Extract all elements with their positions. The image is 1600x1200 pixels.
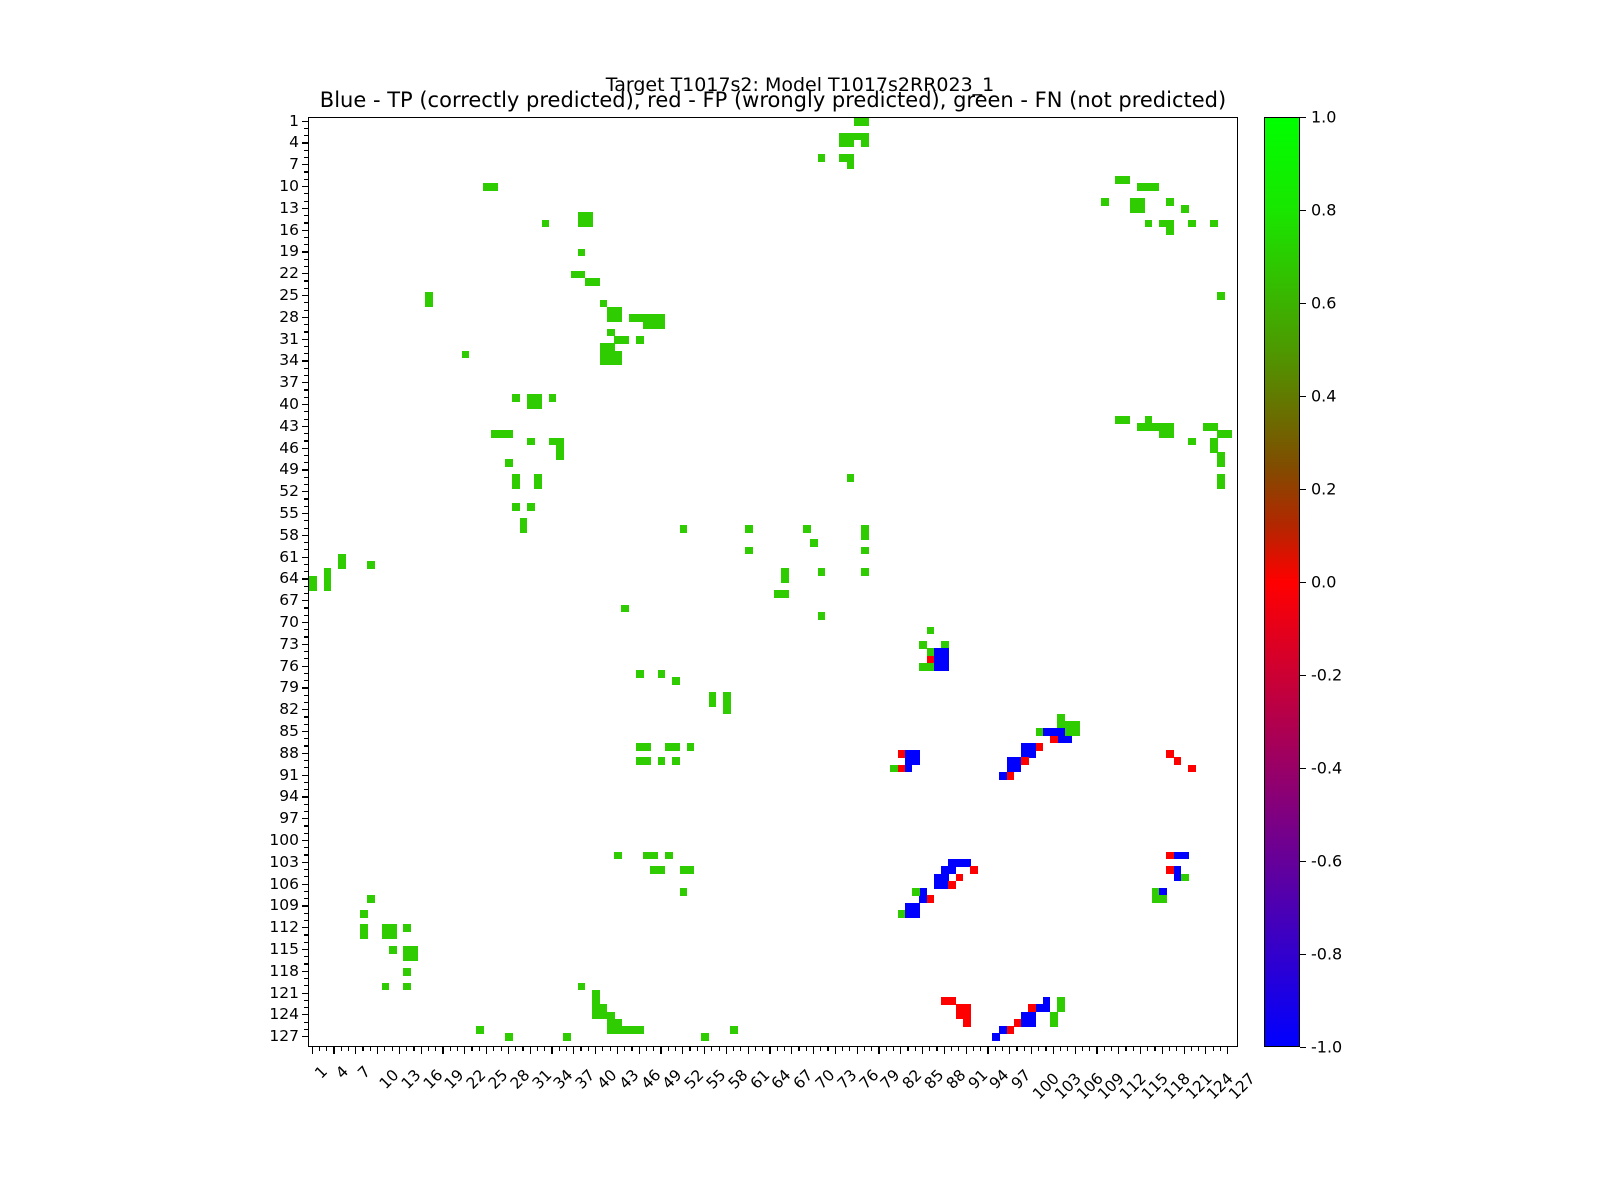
- x-tick-2: [319, 1047, 320, 1051]
- y-tick-18: [304, 244, 308, 245]
- x-tick-103: [1053, 1047, 1054, 1054]
- x-tick-116: [1147, 1047, 1148, 1051]
- y-tick-106: [302, 884, 309, 885]
- x-tick-70: [813, 1047, 814, 1054]
- x-tick-7: [355, 1047, 356, 1054]
- y-tick-111: [304, 920, 308, 921]
- y-tick-124: [302, 1014, 309, 1015]
- y-tick-103: [302, 862, 309, 863]
- x-tick-55: [704, 1047, 705, 1054]
- y-tick-label-13: 13: [279, 199, 299, 217]
- y-tick-96: [304, 811, 308, 812]
- y-tick-5: [304, 150, 308, 151]
- x-tick-49: [660, 1047, 661, 1054]
- y-tick-79: [302, 687, 309, 688]
- colorbar-tick-6: [1300, 675, 1306, 676]
- y-tick-30: [304, 331, 308, 332]
- y-tick-95: [304, 804, 308, 805]
- y-tick-97: [302, 818, 309, 819]
- y-tick-100: [302, 840, 309, 841]
- y-tick-78: [304, 680, 308, 681]
- y-tick-label-55: 55: [279, 504, 299, 522]
- y-tick-52: [302, 491, 309, 492]
- y-tick-75: [304, 658, 308, 659]
- y-tick-121: [302, 993, 309, 994]
- y-tick-32: [304, 346, 308, 347]
- x-tick-label-4: 4: [333, 1062, 353, 1082]
- x-tick-80: [886, 1047, 887, 1051]
- y-tick-label-91: 91: [279, 766, 299, 784]
- x-tick-67: [791, 1047, 792, 1054]
- y-tick-84: [304, 724, 308, 725]
- x-tick-42: [610, 1047, 611, 1051]
- x-tick-122: [1191, 1047, 1192, 1051]
- x-tick-60: [740, 1047, 741, 1051]
- y-tick-62: [304, 564, 308, 565]
- x-tick-43: [617, 1047, 618, 1054]
- y-tick-43: [302, 426, 309, 427]
- y-tick-113: [304, 934, 308, 935]
- x-tick-83: [907, 1047, 908, 1051]
- colorbar-tick-label-10: -1.0: [1311, 1038, 1342, 1057]
- y-tick-85: [302, 731, 309, 732]
- x-tick-35: [559, 1047, 560, 1051]
- x-tick-45: [631, 1047, 632, 1051]
- x-tick-32: [537, 1047, 538, 1051]
- x-tick-47: [646, 1047, 647, 1051]
- x-tick-48: [653, 1047, 654, 1051]
- y-tick-69: [304, 615, 308, 616]
- x-tick-17: [428, 1047, 429, 1051]
- x-tick-101: [1038, 1047, 1039, 1051]
- x-tick-25: [486, 1047, 487, 1054]
- y-tick-93: [304, 789, 308, 790]
- x-tick-1: [312, 1047, 313, 1054]
- y-tick-label-115: 115: [269, 940, 299, 958]
- x-tick-113: [1125, 1047, 1126, 1051]
- colorbar-tick-8: [1300, 861, 1306, 862]
- colorbar-tick-7: [1300, 768, 1306, 769]
- y-tick-64: [302, 578, 309, 579]
- x-tick-124: [1205, 1047, 1206, 1054]
- y-tick-label-73: 73: [279, 635, 299, 653]
- x-tick-29: [515, 1047, 516, 1051]
- x-tick-121: [1184, 1047, 1185, 1054]
- x-tick-88: [944, 1047, 945, 1054]
- x-tick-51: [675, 1047, 676, 1051]
- y-tick-41: [304, 411, 308, 412]
- y-tick-21: [304, 266, 308, 267]
- x-tick-26: [493, 1047, 494, 1051]
- y-tick-26: [304, 302, 308, 303]
- x-tick-18: [435, 1047, 436, 1051]
- x-tick-52: [682, 1047, 683, 1054]
- y-tick-40: [302, 404, 309, 405]
- x-tick-111: [1111, 1047, 1112, 1051]
- x-tick-53: [689, 1047, 690, 1051]
- y-tick-70: [302, 622, 309, 623]
- x-tick-115: [1140, 1047, 1141, 1054]
- y-tick-65: [304, 586, 308, 587]
- y-tick-label-103: 103: [269, 853, 299, 871]
- y-tick-36: [304, 375, 308, 376]
- x-tick-102: [1045, 1047, 1046, 1051]
- x-tick-112: [1118, 1047, 1119, 1054]
- colorbar-tick-label-9: -0.8: [1311, 945, 1342, 964]
- x-tick-50: [668, 1047, 669, 1051]
- y-tick-60: [304, 549, 308, 550]
- x-tick-33: [544, 1047, 545, 1051]
- y-tick-122: [304, 1000, 308, 1001]
- y-tick-83: [304, 716, 308, 717]
- x-tick-22: [464, 1047, 465, 1054]
- x-tick-91: [966, 1047, 967, 1054]
- y-tick-77: [304, 673, 308, 674]
- y-tick-91: [302, 775, 309, 776]
- x-tick-62: [755, 1047, 756, 1051]
- x-tick-21: [457, 1047, 458, 1051]
- y-tick-37: [302, 382, 309, 383]
- x-tick-73: [835, 1047, 836, 1054]
- y-tick-2: [304, 128, 308, 129]
- y-tick-29: [304, 324, 308, 325]
- y-tick-58: [302, 535, 309, 536]
- y-tick-53: [304, 498, 308, 499]
- y-tick-45: [304, 440, 308, 441]
- y-tick-label-64: 64: [279, 569, 299, 587]
- y-tick-117: [304, 963, 308, 964]
- colorbar-tick-2: [1300, 303, 1306, 304]
- y-tick-63: [304, 571, 308, 572]
- y-tick-label-100: 100: [269, 831, 299, 849]
- x-tick-126: [1220, 1047, 1221, 1051]
- y-tick-19: [302, 251, 309, 252]
- y-tick-label-40: 40: [279, 395, 299, 413]
- colorbar-tick-9: [1300, 954, 1306, 955]
- y-tick-57: [304, 528, 308, 529]
- x-tick-40: [595, 1047, 596, 1054]
- y-tick-label-112: 112: [269, 918, 299, 936]
- y-tick-label-34: 34: [279, 351, 299, 369]
- y-tick-14: [304, 215, 308, 216]
- y-tick-label-88: 88: [279, 744, 299, 762]
- x-tick-41: [602, 1047, 603, 1051]
- x-tick-82: [900, 1047, 901, 1054]
- y-tick-87: [304, 745, 308, 746]
- y-tick-92: [304, 782, 308, 783]
- colorbar-tick-label-0: 1.0: [1311, 108, 1336, 127]
- y-tick-15: [304, 222, 308, 223]
- x-tick-87: [936, 1047, 937, 1051]
- y-tick-50: [304, 477, 308, 478]
- x-tick-label-127: 127: [1225, 1069, 1259, 1103]
- y-tick-51: [304, 484, 308, 485]
- y-tick-109: [302, 905, 309, 906]
- y-tick-38: [304, 389, 308, 390]
- y-tick-label-28: 28: [279, 308, 299, 326]
- x-tick-68: [798, 1047, 799, 1051]
- x-tick-36: [566, 1047, 567, 1051]
- x-tick-58: [726, 1047, 727, 1054]
- colorbar-tick-0: [1300, 117, 1306, 118]
- x-tick-59: [733, 1047, 734, 1051]
- colorbar-tick-label-7: -0.4: [1311, 759, 1342, 778]
- y-tick-label-106: 106: [269, 875, 299, 893]
- y-tick-label-85: 85: [279, 722, 299, 740]
- y-tick-127: [302, 1036, 309, 1037]
- x-tick-65: [777, 1047, 778, 1051]
- x-tick-90: [958, 1047, 959, 1051]
- x-tick-96: [1002, 1047, 1003, 1051]
- x-tick-79: [878, 1047, 879, 1054]
- y-tick-102: [304, 854, 308, 855]
- y-tick-76: [302, 666, 309, 667]
- y-tick-68: [304, 607, 308, 608]
- x-tick-71: [820, 1047, 821, 1051]
- colorbar-tick-label-1: 0.8: [1311, 201, 1336, 220]
- y-tick-3: [304, 135, 308, 136]
- y-tick-89: [304, 760, 308, 761]
- x-tick-31: [530, 1047, 531, 1054]
- y-tick-120: [304, 985, 308, 986]
- y-tick-label-79: 79: [279, 678, 299, 696]
- x-tick-27: [501, 1047, 502, 1051]
- y-tick-66: [304, 593, 308, 594]
- y-tick-label-109: 109: [269, 896, 299, 914]
- y-tick-110: [304, 913, 308, 914]
- y-tick-label-82: 82: [279, 700, 299, 718]
- x-tick-75: [849, 1047, 850, 1051]
- x-tick-84: [915, 1047, 916, 1051]
- colorbar-tick-label-6: -0.2: [1311, 666, 1342, 685]
- x-tick-46: [639, 1047, 640, 1054]
- y-tick-7: [302, 164, 309, 165]
- colorbar-tick-layer: 1.00.80.60.40.20.0-0.2-0.4-0.6-0.8-1.0: [1264, 117, 1300, 1047]
- x-tick-34: [551, 1047, 552, 1054]
- y-tick-22: [302, 273, 309, 274]
- y-tick-107: [304, 891, 308, 892]
- y-tick-116: [304, 956, 308, 957]
- x-tick-92: [973, 1047, 974, 1051]
- y-tick-94: [302, 796, 309, 797]
- y-tick-label-124: 124: [269, 1005, 299, 1023]
- x-tick-127: [1227, 1047, 1228, 1054]
- y-tick-67: [302, 600, 309, 601]
- colorbar-tick-label-2: 0.6: [1311, 294, 1336, 313]
- y-tick-label-61: 61: [279, 548, 299, 566]
- x-tick-119: [1169, 1047, 1170, 1051]
- y-tick-49: [302, 469, 309, 470]
- y-tick-61: [302, 557, 309, 558]
- colorbar-tick-label-3: 0.4: [1311, 387, 1336, 406]
- y-tick-17: [304, 237, 308, 238]
- x-tick-108: [1089, 1047, 1090, 1051]
- y-tick-label-43: 43: [279, 417, 299, 435]
- y-tick-42: [304, 419, 308, 420]
- x-tick-78: [871, 1047, 872, 1051]
- colorbar-tick-5: [1300, 582, 1306, 583]
- x-tick-93: [980, 1047, 981, 1051]
- x-tick-19: [442, 1047, 443, 1054]
- y-tick-46: [302, 448, 309, 449]
- x-tick-63: [762, 1047, 763, 1051]
- y-tick-13: [302, 208, 309, 209]
- y-tick-59: [304, 542, 308, 543]
- y-tick-82: [302, 709, 309, 710]
- x-tick-120: [1176, 1047, 1177, 1051]
- x-tick-23: [471, 1047, 472, 1051]
- y-tick-105: [304, 876, 308, 877]
- y-tick-label-70: 70: [279, 613, 299, 631]
- y-tick-label-16: 16: [279, 221, 299, 239]
- y-tick-90: [304, 767, 308, 768]
- x-tick-117: [1154, 1047, 1155, 1051]
- x-tick-100: [1031, 1047, 1032, 1054]
- x-tick-30: [522, 1047, 523, 1051]
- y-tick-label-22: 22: [279, 264, 299, 282]
- y-tick-112: [302, 927, 309, 928]
- y-tick-label-52: 52: [279, 482, 299, 500]
- x-tick-label-1: 1: [311, 1062, 331, 1082]
- x-tick-109: [1096, 1047, 1097, 1054]
- y-tick-101: [304, 847, 308, 848]
- y-tick-74: [304, 651, 308, 652]
- x-tick-72: [827, 1047, 828, 1051]
- x-tick-16: [421, 1047, 422, 1054]
- x-tick-56: [711, 1047, 712, 1051]
- y-tick-44: [304, 433, 308, 434]
- x-tick-125: [1213, 1047, 1214, 1051]
- y-tick-56: [304, 520, 308, 521]
- x-tick-5: [341, 1047, 342, 1051]
- colorbar-tick-label-5: 0.0: [1311, 573, 1336, 592]
- y-tick-88: [302, 753, 309, 754]
- x-tick-14: [406, 1047, 407, 1051]
- x-tick-105: [1067, 1047, 1068, 1051]
- colorbar-tick-label-4: 0.2: [1311, 480, 1336, 499]
- colorbar-tick-1: [1300, 210, 1306, 211]
- y-tick-24: [304, 288, 308, 289]
- x-tick-54: [697, 1047, 698, 1051]
- x-tick-37: [573, 1047, 574, 1054]
- y-tick-11: [304, 193, 308, 194]
- x-tick-66: [784, 1047, 785, 1051]
- y-tick-98: [304, 825, 308, 826]
- colorbar-tick-4: [1300, 489, 1306, 490]
- x-tick-13: [399, 1047, 400, 1054]
- y-tick-label-31: 31: [279, 330, 299, 348]
- x-tick-11: [384, 1047, 385, 1051]
- x-tick-10: [377, 1047, 378, 1054]
- y-tick-4: [302, 142, 309, 143]
- x-tick-38: [580, 1047, 581, 1051]
- x-tick-89: [951, 1047, 952, 1051]
- y-tick-label-97: 97: [279, 809, 299, 827]
- y-tick-71: [304, 629, 308, 630]
- x-tick-114: [1133, 1047, 1134, 1051]
- x-tick-123: [1198, 1047, 1199, 1051]
- x-tick-81: [893, 1047, 894, 1051]
- y-tick-label-4: 4: [289, 133, 299, 151]
- x-tick-104: [1060, 1047, 1061, 1051]
- y-tick-label-67: 67: [279, 591, 299, 609]
- x-tick-3: [326, 1047, 327, 1051]
- y-tick-39: [304, 397, 308, 398]
- colorbar-tick-3: [1300, 396, 1306, 397]
- y-tick-10: [302, 186, 309, 187]
- figure-canvas: Target T1017s2: Model T1017s2RR023_1 Cor…: [0, 0, 1600, 1200]
- y-tick-54: [304, 506, 308, 507]
- y-tick-35: [304, 368, 308, 369]
- y-tick-label-46: 46: [279, 439, 299, 457]
- y-tick-label-58: 58: [279, 526, 299, 544]
- y-tick-125: [304, 1022, 308, 1023]
- x-tick-64: [769, 1047, 770, 1054]
- x-tick-12: [392, 1047, 393, 1051]
- x-tick-9: [370, 1047, 371, 1051]
- x-tick-8: [362, 1047, 363, 1051]
- y-tick-126: [304, 1029, 308, 1030]
- x-tick-110: [1104, 1047, 1105, 1051]
- y-tick-label-10: 10: [279, 177, 299, 195]
- x-tick-20: [450, 1047, 451, 1051]
- x-tick-39: [588, 1047, 589, 1051]
- x-tick-24: [479, 1047, 480, 1051]
- x-tick-label-7: 7: [355, 1062, 375, 1082]
- colorbar-tick-label-8: -0.6: [1311, 852, 1342, 871]
- y-tick-label-19: 19: [279, 242, 299, 260]
- y-tick-12: [304, 201, 308, 202]
- y-tick-16: [302, 230, 309, 231]
- x-tick-74: [842, 1047, 843, 1051]
- colorbar-tick-10: [1300, 1047, 1306, 1048]
- y-tick-114: [304, 942, 308, 943]
- x-tick-77: [864, 1047, 865, 1051]
- y-tick-31: [302, 339, 309, 340]
- x-tick-99: [1024, 1047, 1025, 1051]
- y-tick-99: [304, 833, 308, 834]
- y-tick-55: [302, 513, 309, 514]
- x-tick-76: [857, 1047, 858, 1054]
- y-tick-label-1: 1: [289, 112, 299, 130]
- x-tick-44: [624, 1047, 625, 1051]
- y-tick-48: [304, 462, 308, 463]
- y-tick-1: [302, 121, 309, 122]
- y-tick-25: [302, 295, 309, 296]
- x-tick-4: [333, 1047, 334, 1054]
- x-tick-98: [1016, 1047, 1017, 1051]
- y-tick-label-76: 76: [279, 657, 299, 675]
- y-tick-34: [302, 360, 309, 361]
- x-tick-15: [413, 1047, 414, 1051]
- y-tick-label-94: 94: [279, 787, 299, 805]
- y-tick-108: [304, 898, 308, 899]
- y-tick-label-49: 49: [279, 460, 299, 478]
- y-tick-8: [304, 171, 308, 172]
- y-tick-118: [302, 971, 309, 972]
- y-tick-28: [302, 317, 309, 318]
- y-tick-115: [302, 949, 309, 950]
- axes-title: Blue - TP (correctly predicted), red - F…: [308, 88, 1238, 112]
- x-tick-61: [748, 1047, 749, 1054]
- x-tick-86: [929, 1047, 930, 1051]
- y-tick-9: [304, 179, 308, 180]
- x-tick-97: [1009, 1047, 1010, 1054]
- x-tick-118: [1162, 1047, 1163, 1054]
- y-tick-23: [304, 280, 308, 281]
- x-tick-6: [348, 1047, 349, 1051]
- y-tick-label-37: 37: [279, 373, 299, 391]
